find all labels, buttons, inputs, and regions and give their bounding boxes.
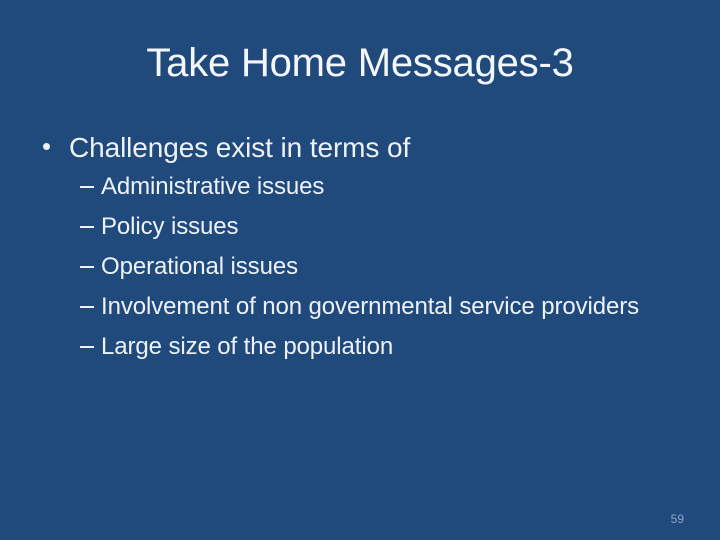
slide-number: 59: [671, 512, 684, 526]
dash-marker-icon: [80, 186, 94, 188]
bullet-level1-label: Challenges exist in terms of: [69, 132, 410, 163]
dash-marker-icon: [80, 226, 94, 228]
dash-marker-icon: [80, 346, 94, 348]
dash-marker-icon: [80, 306, 94, 308]
bullet-level2-item: Operational issues: [36, 250, 684, 284]
bullet-level1-item: Challenges exist in terms of: [36, 129, 684, 167]
sub-bullet-list: Administrative issues Policy issues Oper…: [36, 170, 684, 364]
bullet-level2-item: Policy issues: [36, 210, 684, 244]
slide-title: Take Home Messages-3: [60, 40, 660, 86]
bullet-level2-label: Policy issues: [101, 213, 238, 240]
bullet-level2-label: Large size of the population: [101, 333, 393, 360]
bullet-level2-label: Involvement of non governmental service …: [101, 293, 639, 320]
bullet-level2-item: Administrative issues: [36, 170, 684, 204]
dash-marker-icon: [80, 266, 94, 268]
bullet-level2-label: Operational issues: [101, 253, 298, 280]
bullet-dot-icon: [43, 143, 50, 150]
bullet-level2-item: Large size of the population: [36, 330, 684, 364]
bullet-level2-item: Involvement of non governmental service …: [36, 290, 684, 324]
presentation-slide: Take Home Messages-3 Challenges exist in…: [0, 0, 720, 540]
slide-body-content: Challenges exist in terms of Administrat…: [36, 129, 684, 370]
bullet-level2-label: Administrative issues: [101, 173, 324, 200]
